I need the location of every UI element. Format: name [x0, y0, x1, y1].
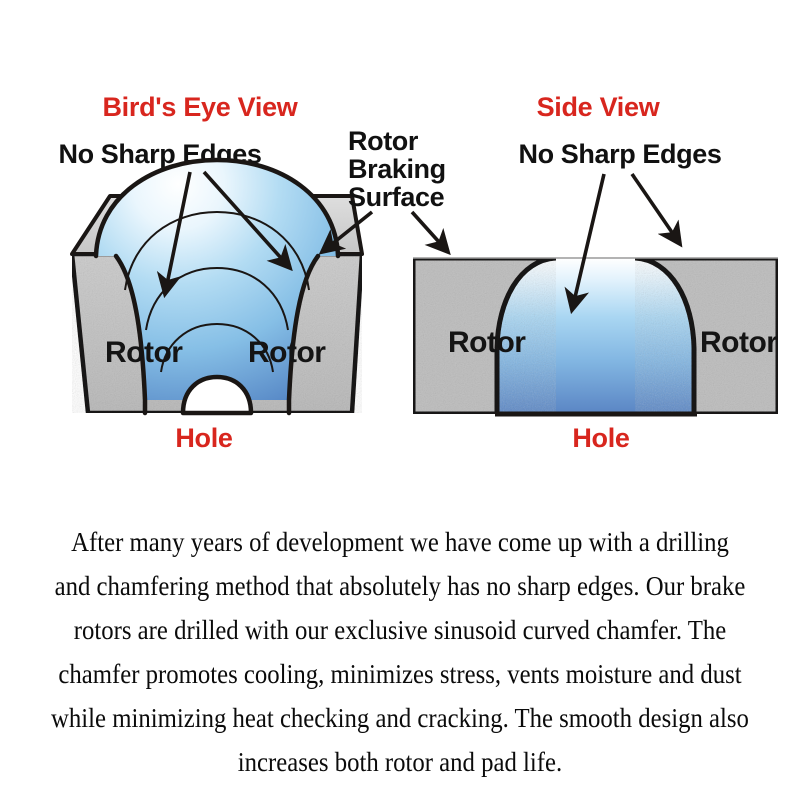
side-view-rotor-left-label: Rotor [448, 326, 526, 359]
side-view-no-sharp-edges-arrow-right [632, 174, 680, 244]
rotor-braking-surface-arrow-right [412, 212, 448, 252]
description-paragraph: After many years of development we have … [40, 520, 760, 784]
birds-eye-view-group: Bird's Eye View No Sharp Edges Rotor Rot… [59, 92, 362, 453]
birds-eye-hole-label: Hole [175, 423, 233, 453]
rotor-braking-surface-line-2: Braking [348, 154, 446, 184]
side-view-no-sharp-edges-label: No Sharp Edges [519, 139, 722, 169]
rotor-braking-surface-line-1: Rotor [348, 126, 419, 156]
description-paragraph-container: After many years of development we have … [40, 520, 760, 784]
diagram-page: Bird's Eye View No Sharp Edges Rotor Rot… [0, 0, 800, 800]
birds-eye-title: Bird's Eye View [102, 92, 298, 122]
side-view-rotor-right-label: Rotor [700, 326, 778, 359]
side-view-hole-label: Hole [572, 423, 630, 453]
side-view-title: Side View [537, 92, 661, 122]
birds-eye-rotor-right-label: Rotor [248, 336, 326, 369]
side-view-group: Side View No Sharp Edges Rotor Rotor Hol… [413, 92, 778, 453]
rotor-braking-surface-line-3: Surface [348, 182, 445, 212]
birds-eye-rotor-left-label: Rotor [105, 336, 183, 369]
